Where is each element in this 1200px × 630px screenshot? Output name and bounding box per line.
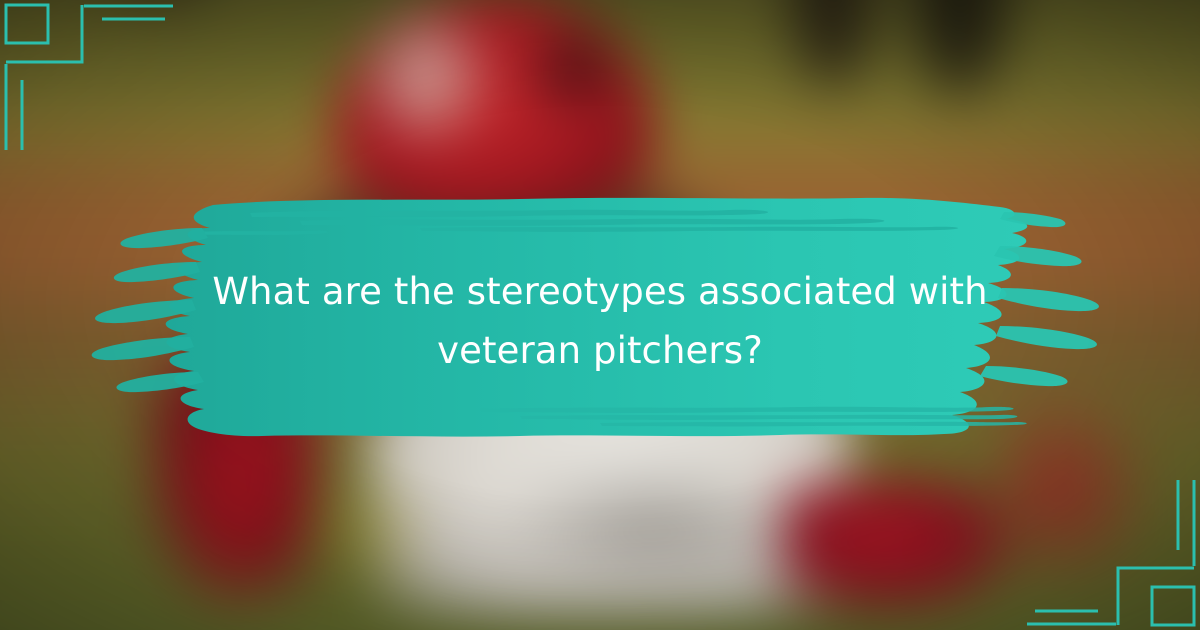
corner-bracket-bottom-right xyxy=(1000,480,1200,630)
corner-bracket-top-left xyxy=(0,0,200,150)
corner-l-bracket xyxy=(6,5,82,62)
corner-l-bracket xyxy=(1118,568,1194,625)
corner-square-icon xyxy=(1152,587,1194,625)
question-card: What are the stereotypes associated with… xyxy=(0,0,1200,630)
headline-text: What are the stereotypes associated with… xyxy=(170,262,1030,380)
corner-square-icon xyxy=(6,5,48,43)
